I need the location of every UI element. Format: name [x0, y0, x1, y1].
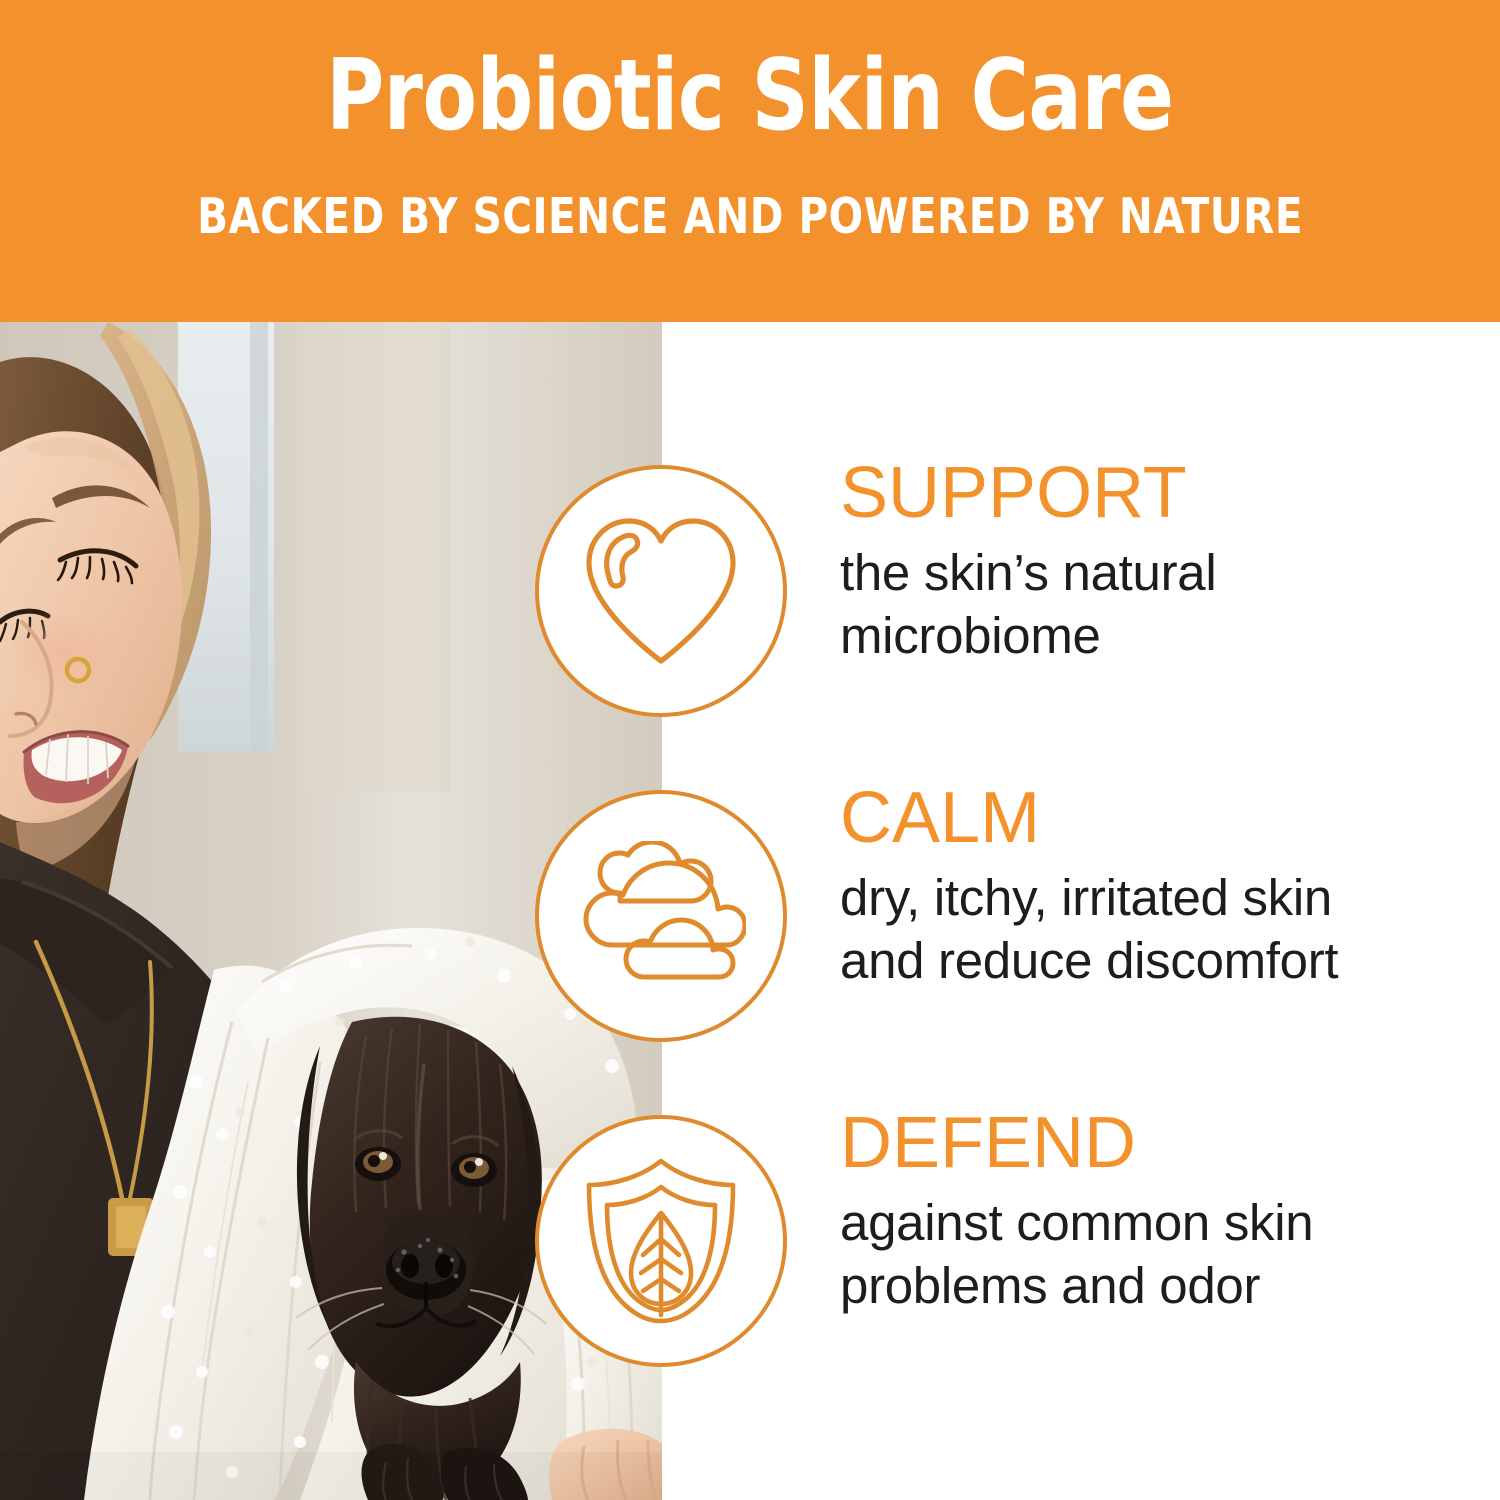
benefit-body-line: the skin’s natural: [840, 542, 1490, 604]
shield-leaf-icon: [535, 1115, 787, 1367]
benefit-body-line: problems and odor: [840, 1255, 1490, 1317]
benefit-text-calm: CALM dry, itchy, irritated skin and redu…: [840, 782, 1490, 992]
clouds-icon: [535, 790, 787, 1042]
heart-icon: [535, 465, 787, 717]
benefit-item-support: SUPPORT the skin’s natural microbiome: [662, 465, 1500, 725]
benefit-body-calm: dry, itchy, irritated skin and reduce di…: [840, 867, 1490, 991]
benefit-item-calm: CALM dry, itchy, irritated skin and redu…: [662, 790, 1500, 1050]
benefit-text-defend: DEFEND against common skin problems and …: [840, 1107, 1490, 1317]
benefit-body-line: microbiome: [840, 605, 1490, 667]
benefit-body-line: and reduce discomfort: [840, 930, 1490, 992]
benefit-body-line: against common skin: [840, 1192, 1490, 1254]
benefit-text-support: SUPPORT the skin’s natural microbiome: [840, 457, 1490, 667]
product-infographic: Probiotic Skin Care BACKED BY SCIENCE AN…: [0, 0, 1500, 1500]
page-subtitle: BACKED BY SCIENCE AND POWERED BY NATURE: [197, 192, 1303, 241]
benefits-list: SUPPORT the skin’s natural microbiome: [662, 322, 1500, 1500]
benefit-body-line: dry, itchy, irritated skin: [840, 867, 1490, 929]
benefit-heading-defend: DEFEND: [840, 1107, 1490, 1180]
page-title: Probiotic Skin Care: [326, 46, 1173, 148]
benefit-heading-support: SUPPORT: [840, 457, 1490, 530]
benefit-heading-calm: CALM: [840, 782, 1490, 855]
benefit-item-defend: DEFEND against common skin problems and …: [662, 1115, 1500, 1375]
benefit-body-support: the skin’s natural microbiome: [840, 542, 1490, 666]
benefit-body-defend: against common skin problems and odor: [840, 1192, 1490, 1316]
header-banner: Probiotic Skin Care BACKED BY SCIENCE AN…: [0, 0, 1500, 322]
